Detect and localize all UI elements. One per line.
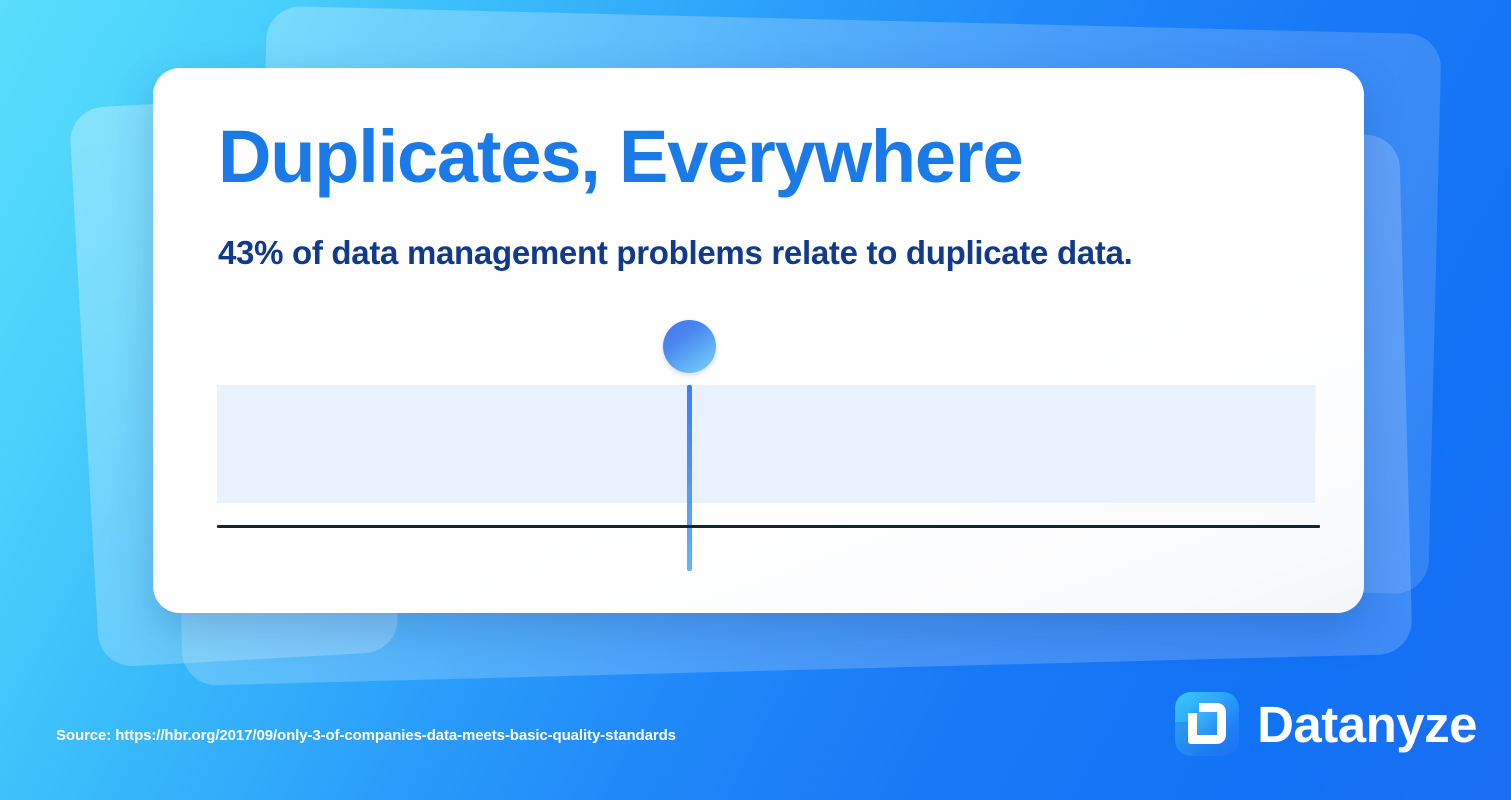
datanyze-logo: Datanyze <box>1175 692 1477 756</box>
datanyze-d-square-icon <box>1175 692 1239 756</box>
chart-track-band <box>217 385 1315 503</box>
logo-wordmark: Datanyze <box>1257 699 1477 750</box>
logo-glyph-notch <box>1188 703 1199 713</box>
chart-marker-line <box>687 385 692 571</box>
logo-glyph-inner <box>1197 712 1217 735</box>
chart-baseline-axis <box>217 525 1320 528</box>
source-citation: Source: https://hbr.org/2017/09/only-3-o… <box>56 727 676 744</box>
page-subtitle: 43% of data management problems relate t… <box>218 236 1132 269</box>
chart-marker-dot <box>663 320 716 373</box>
page-title: Duplicates, Everywhere <box>218 120 1022 194</box>
infographic-canvas: Duplicates, Everywhere 43% of data manag… <box>0 0 1511 800</box>
content-card: Duplicates, Everywhere 43% of data manag… <box>153 68 1364 613</box>
